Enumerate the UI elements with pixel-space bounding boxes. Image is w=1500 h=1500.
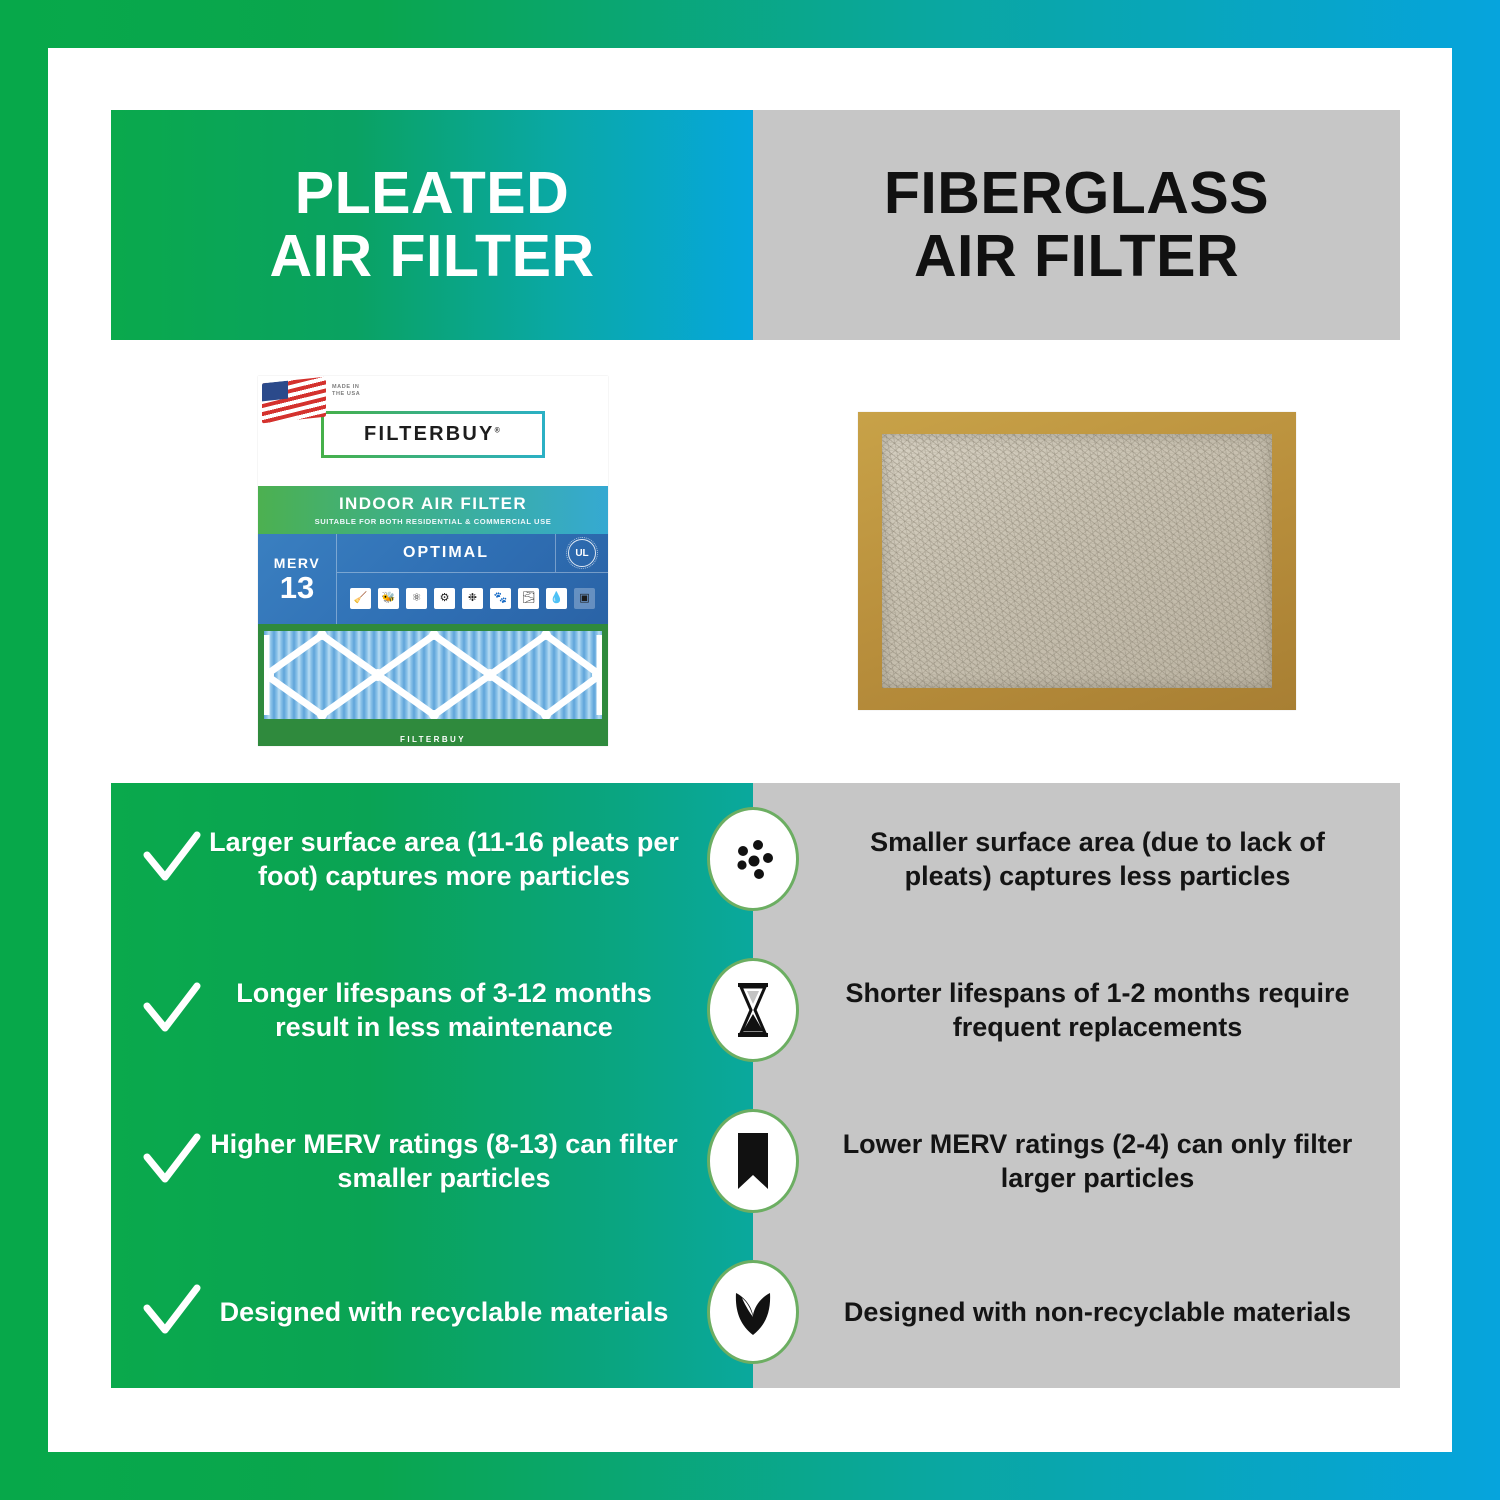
fiberglass-mesh — [882, 434, 1272, 688]
pleated-media-photo: FILTERBUY — [258, 624, 608, 746]
mold-icon: ⚙ — [434, 588, 455, 609]
header-pleated: PLEATED AIR FILTER — [111, 110, 753, 340]
row-left-text: Higher MERV ratings (8-13) can filter sm… — [207, 1127, 681, 1195]
filter-footer-brand: FILTERBUY — [258, 735, 608, 744]
checkmark-icon — [141, 982, 203, 1038]
merv-rating-block: MERV 13 — [258, 534, 337, 624]
row-right-text: Lower MERV ratings (2-4) can only filter… — [835, 1127, 1360, 1195]
fiberglass-filter-image — [858, 412, 1296, 710]
pleated-filter-package-image: MADE IN THE USA FILTERBUY® INDOOR AIR FI… — [258, 376, 608, 746]
blue-pleats — [264, 631, 602, 719]
header-band: PLEATED AIR FILTER FIBERGLASS AIR FILTER — [111, 110, 1400, 340]
brand-word: FILTERBUY — [364, 423, 495, 445]
checkmark-icon — [141, 1133, 203, 1189]
row-center-icon — [707, 1109, 799, 1213]
checkmark-icon — [141, 831, 203, 887]
fiberglass-product-cell — [755, 352, 1399, 770]
merv-label: MERV — [274, 555, 321, 571]
extra-icon: ▣ — [574, 588, 595, 609]
package-usage-label: SUITABLE FOR BOTH RESIDENTIAL & COMMERCI… — [315, 517, 552, 526]
comparison-panel: Larger surface area (11-16 pleats per fo… — [111, 783, 1400, 1388]
filterbuy-logo-box: FILTERBUY® — [321, 411, 545, 458]
row-right-cell: Smaller surface area (due to lack of ple… — [753, 783, 1400, 934]
package-header: MADE IN THE USA FILTERBUY® — [258, 376, 608, 486]
checkmark-icon — [141, 1284, 203, 1340]
package-subtitle-band: INDOOR AIR FILTER SUITABLE FOR BOTH RESI… — [258, 486, 608, 534]
row-left-cell: Longer lifespans of 3-12 months result i… — [111, 934, 753, 1085]
broom-icon: 🧹 — [350, 588, 371, 609]
comparison-row: Higher MERV ratings (8-13) can filter sm… — [111, 1086, 1400, 1237]
indoor-air-filter-label: INDOOR AIR FILTER — [339, 494, 527, 514]
usa-flag-icon — [262, 377, 326, 424]
capture-icon-strip: 🧹 🐝 ⚛ ⚙ ❉ 🐾 🌫 💧 ▣ — [337, 573, 608, 624]
tier-label: OPTIMAL — [337, 544, 555, 562]
package-spec-block: MERV 13 OPTIMAL UL 🧹 🐝 ⚛ ⚙ — [258, 534, 608, 624]
merv-value: 13 — [280, 572, 314, 603]
pet-dander-icon: 🐾 — [490, 588, 511, 609]
dust-mite-icon: 🐝 — [378, 588, 399, 609]
row-right-cell: Shorter lifespans of 1-2 months require … — [753, 934, 1400, 1085]
row-left-text: Longer lifespans of 3-12 months result i… — [207, 976, 681, 1044]
ul-certification-badge: UL — [555, 534, 608, 572]
row-right-cell: Lower MERV ratings (2-4) can only filter… — [753, 1086, 1400, 1237]
row-right-cell: Designed with non-recyclable materials — [753, 1237, 1400, 1388]
product-image-row: MADE IN THE USA FILTERBUY® INDOOR AIR FI… — [111, 352, 1400, 770]
bacteria-icon: 💧 — [546, 588, 567, 609]
row-center-icon — [707, 1260, 799, 1364]
pollen-icon: ⚛ — [406, 588, 427, 609]
header-pleated-title: PLEATED AIR FILTER — [269, 162, 594, 288]
made-in-usa-label: MADE IN THE USA — [332, 384, 360, 399]
filterbuy-logo-text: FILTERBUY® — [364, 423, 502, 446]
row-right-text: Designed with non-recyclable materials — [844, 1295, 1351, 1329]
tier-row: OPTIMAL UL — [337, 534, 608, 573]
header-fiberglass-title: FIBERGLASS AIR FILTER — [884, 162, 1269, 288]
lint-icon: ❉ — [462, 588, 483, 609]
ul-mark-icon: UL — [568, 539, 596, 567]
row-right-text: Smaller surface area (due to lack of ple… — [835, 825, 1360, 893]
smoke-icon: 🌫 — [518, 588, 539, 609]
row-left-cell: Designed with recyclable materials — [111, 1237, 753, 1388]
bookmark-icon — [707, 1109, 799, 1213]
row-left-text: Designed with recyclable materials — [207, 1295, 681, 1329]
pleated-product-cell: MADE IN THE USA FILTERBUY® INDOOR AIR FI… — [111, 352, 755, 770]
hourglass-icon — [707, 958, 799, 1062]
diamond-wire-support-icon — [264, 631, 602, 719]
row-center-icon — [707, 958, 799, 1062]
leaf-icon — [707, 1260, 799, 1364]
row-left-text: Larger surface area (11-16 pleats per fo… — [207, 825, 681, 893]
registered-mark: ® — [495, 427, 502, 434]
comparison-row: Longer lifespans of 3-12 months result i… — [111, 934, 1400, 1085]
package-spec-right: OPTIMAL UL 🧹 🐝 ⚛ ⚙ ❉ 🐾 🌫 💧 — [337, 534, 608, 624]
row-left-cell: Larger surface area (11-16 pleats per fo… — [111, 783, 753, 934]
comparison-row: Larger surface area (11-16 pleats per fo… — [111, 783, 1400, 934]
comparison-rows: Larger surface area (11-16 pleats per fo… — [111, 783, 1400, 1388]
particles-icon — [707, 807, 799, 911]
row-center-icon — [707, 807, 799, 911]
comparison-row: Designed with recyclable materials Desig… — [111, 1237, 1400, 1388]
header-fiberglass: FIBERGLASS AIR FILTER — [753, 110, 1400, 340]
row-right-text: Shorter lifespans of 1-2 months require … — [835, 976, 1360, 1044]
row-left-cell: Higher MERV ratings (8-13) can filter sm… — [111, 1086, 753, 1237]
